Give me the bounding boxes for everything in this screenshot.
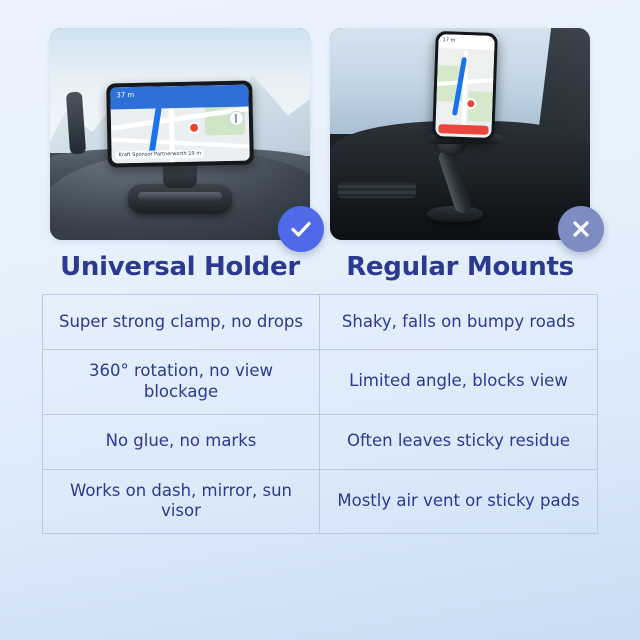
- check-icon: [289, 217, 313, 241]
- pro-cell: Super strong clamp, no drops: [43, 295, 320, 349]
- comparison-table: Super strong clamp, no drops Shaky, fall…: [42, 294, 598, 534]
- con-cell: Often leaves sticky residue: [320, 415, 597, 469]
- cross-icon: [569, 217, 593, 241]
- air-vent: [338, 182, 416, 198]
- map-route-line: [149, 106, 162, 155]
- phone-right: 17 m: [432, 31, 498, 141]
- phone-screen-right: 17 m: [435, 34, 495, 138]
- nav-bottom-bar: [439, 124, 489, 135]
- dash-clip-base: [128, 184, 232, 214]
- right-column-heading: Regular Mounts: [330, 252, 590, 282]
- product-image-row: 37 m Kraft Sponsor Partnerworth 19 m: [0, 0, 640, 240]
- nav-distance-text: 17 m: [443, 37, 456, 43]
- nav-distance-text: 37 m: [116, 91, 134, 99]
- right-photo-wrap: 17 m: [330, 28, 590, 240]
- map-destination-pin: [188, 122, 200, 134]
- nav-distance-bar: 37 m: [110, 85, 248, 110]
- navigation-map-right: 17 m: [435, 34, 495, 138]
- suction-cup-phone-mount-photo: 17 m: [330, 28, 590, 240]
- pro-cell: No glue, no marks: [43, 415, 320, 469]
- con-cell: Shaky, falls on bumpy roads: [320, 295, 597, 349]
- left-photo-wrap: 37 m Kraft Sponsor Partnerworth 19 m: [50, 28, 310, 240]
- phone-screen-left: 37 m Kraft Sponsor Partnerworth 19 m: [110, 85, 250, 164]
- cross-badge: [558, 206, 604, 252]
- table-row: Super strong clamp, no drops Shaky, fall…: [43, 295, 597, 350]
- check-badge: [278, 206, 324, 252]
- phone-left: 37 m Kraft Sponsor Partnerworth 19 m: [106, 80, 254, 167]
- pro-cell: Works on dash, mirror, sun visor: [43, 470, 320, 534]
- pro-cell: 360° rotation, no view blockage: [43, 350, 320, 414]
- left-column-heading: Universal Holder: [50, 252, 310, 282]
- comparison-infographic: 37 m Kraft Sponsor Partnerworth 19 m: [0, 0, 640, 640]
- dash-clip-phone-holder-photo: 37 m Kraft Sponsor Partnerworth 19 m: [50, 28, 310, 240]
- navigation-map-left: 37 m Kraft Sponsor Partnerworth 19 m: [110, 85, 250, 164]
- table-row: No glue, no marks Often leaves sticky re…: [43, 415, 597, 470]
- nav-distance-bar: 17 m: [438, 34, 494, 50]
- table-row: 360° rotation, no view blockage Limited …: [43, 350, 597, 415]
- con-cell: Limited angle, blocks view: [320, 350, 597, 414]
- nav-street-label: Kraft Sponsor Partnerworth 19 m: [116, 149, 205, 159]
- map-road: [111, 137, 249, 148]
- heading-row: Universal Holder Regular Mounts: [0, 240, 640, 282]
- table-row: Works on dash, mirror, sun visor Mostly …: [43, 470, 597, 535]
- con-cell: Mostly air vent or sticky pads: [320, 470, 597, 534]
